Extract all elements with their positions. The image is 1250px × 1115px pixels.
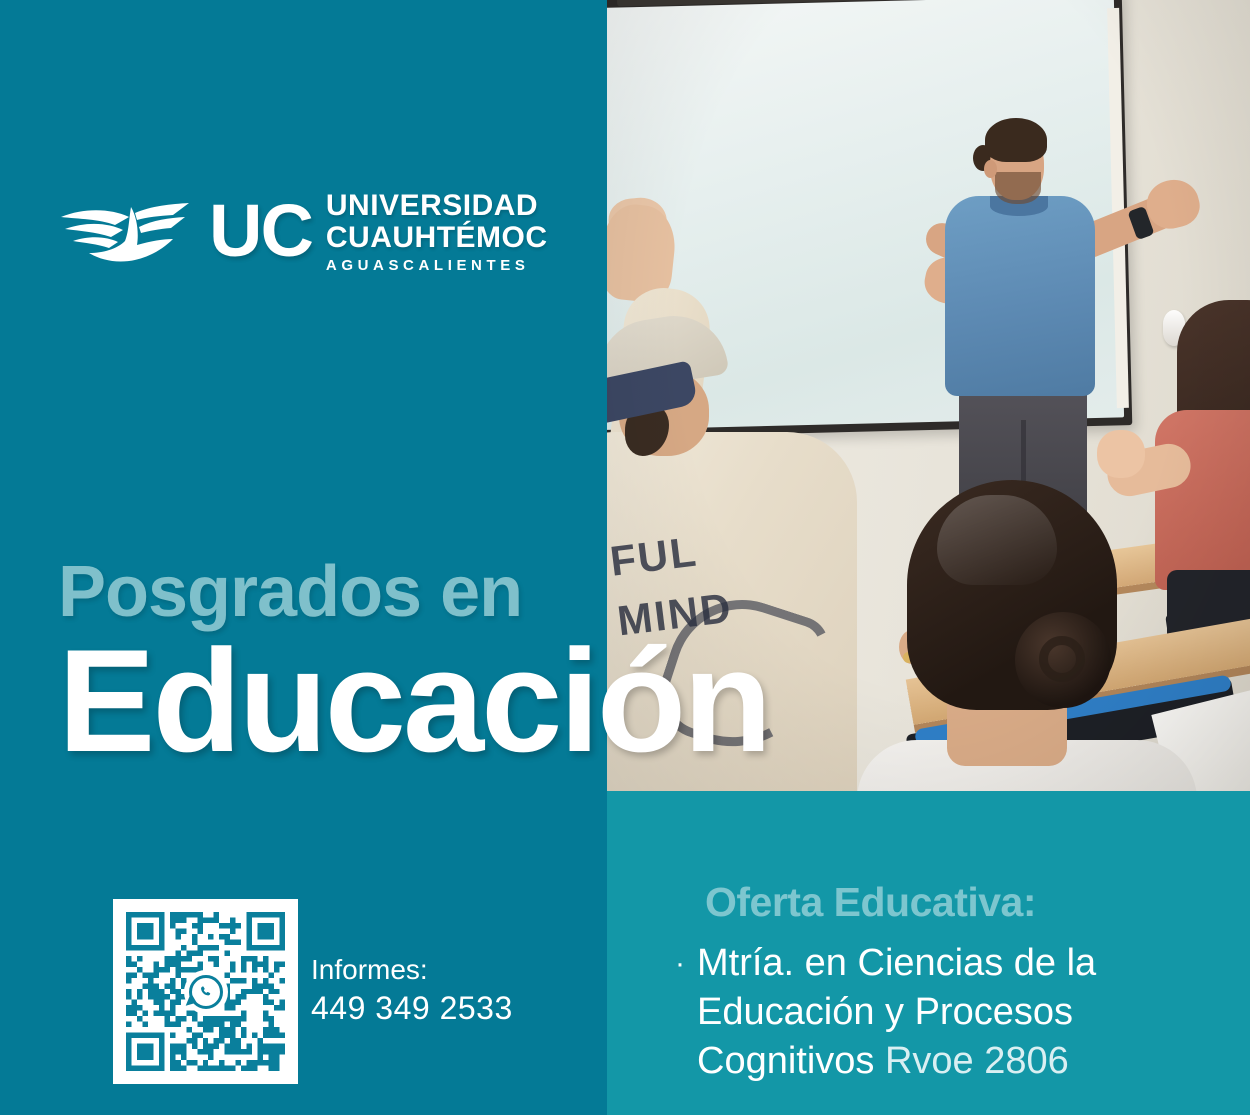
student-front-hair-sheen	[937, 495, 1057, 585]
uc-monogram: UC	[209, 194, 312, 268]
whatsapp-badge	[184, 970, 228, 1014]
teacher-ear	[984, 160, 997, 178]
teacher-hair	[985, 118, 1047, 162]
teacher-torso	[945, 196, 1095, 396]
teacher-beard	[995, 172, 1041, 204]
offer-item-rvoe: Rvoe 2806	[885, 1040, 1069, 1082]
bullet-icon: ·	[675, 939, 685, 989]
university-logo: UC UNIVERSIDAD CUAUHTÉMOC AGUASCALIENTES	[55, 188, 548, 273]
university-line-3: AGUASCALIENTES	[326, 258, 548, 273]
phone-number[interactable]: 449 349 2533	[311, 988, 513, 1028]
poster-root: FULMIND UC UNIVERSID	[0, 0, 1250, 1115]
eagle-icon	[55, 191, 195, 271]
headline-block: Posgrados en Educación	[58, 552, 769, 776]
contact-info: Informes: 449 349 2533	[311, 952, 513, 1028]
whatsapp-qr-code[interactable]	[113, 899, 298, 1084]
phone-glyph-icon	[197, 983, 215, 1001]
offer-list: · Mtría. en Ciencias de la Educación y P…	[675, 939, 1215, 1086]
university-name-block: UNIVERSIDAD CUAUHTÉMOC AGUASCALIENTES	[326, 188, 548, 273]
whatsapp-icon	[189, 975, 223, 1009]
qr-canvas	[126, 912, 285, 1071]
offer-panel: Oferta Educativa: · Mtría. en Ciencias d…	[607, 791, 1250, 1115]
list-item: · Mtría. en Ciencias de la Educación y P…	[675, 939, 1215, 1086]
student-right-hands	[1097, 430, 1145, 478]
offer-item-text: Mtría. en Ciencias de la Educación y Pro…	[697, 939, 1215, 1086]
student-right-body	[1155, 410, 1250, 590]
student-front-bun-inner	[1039, 636, 1085, 682]
whatsapp-tail	[185, 992, 199, 1008]
university-line-2: CUAUHTÉMOC	[326, 223, 548, 253]
university-line-1: UNIVERSIDAD	[326, 191, 548, 221]
informes-label: Informes:	[311, 952, 513, 988]
offer-heading: Oferta Educativa:	[705, 879, 1036, 926]
page-title: Educación	[58, 626, 769, 776]
